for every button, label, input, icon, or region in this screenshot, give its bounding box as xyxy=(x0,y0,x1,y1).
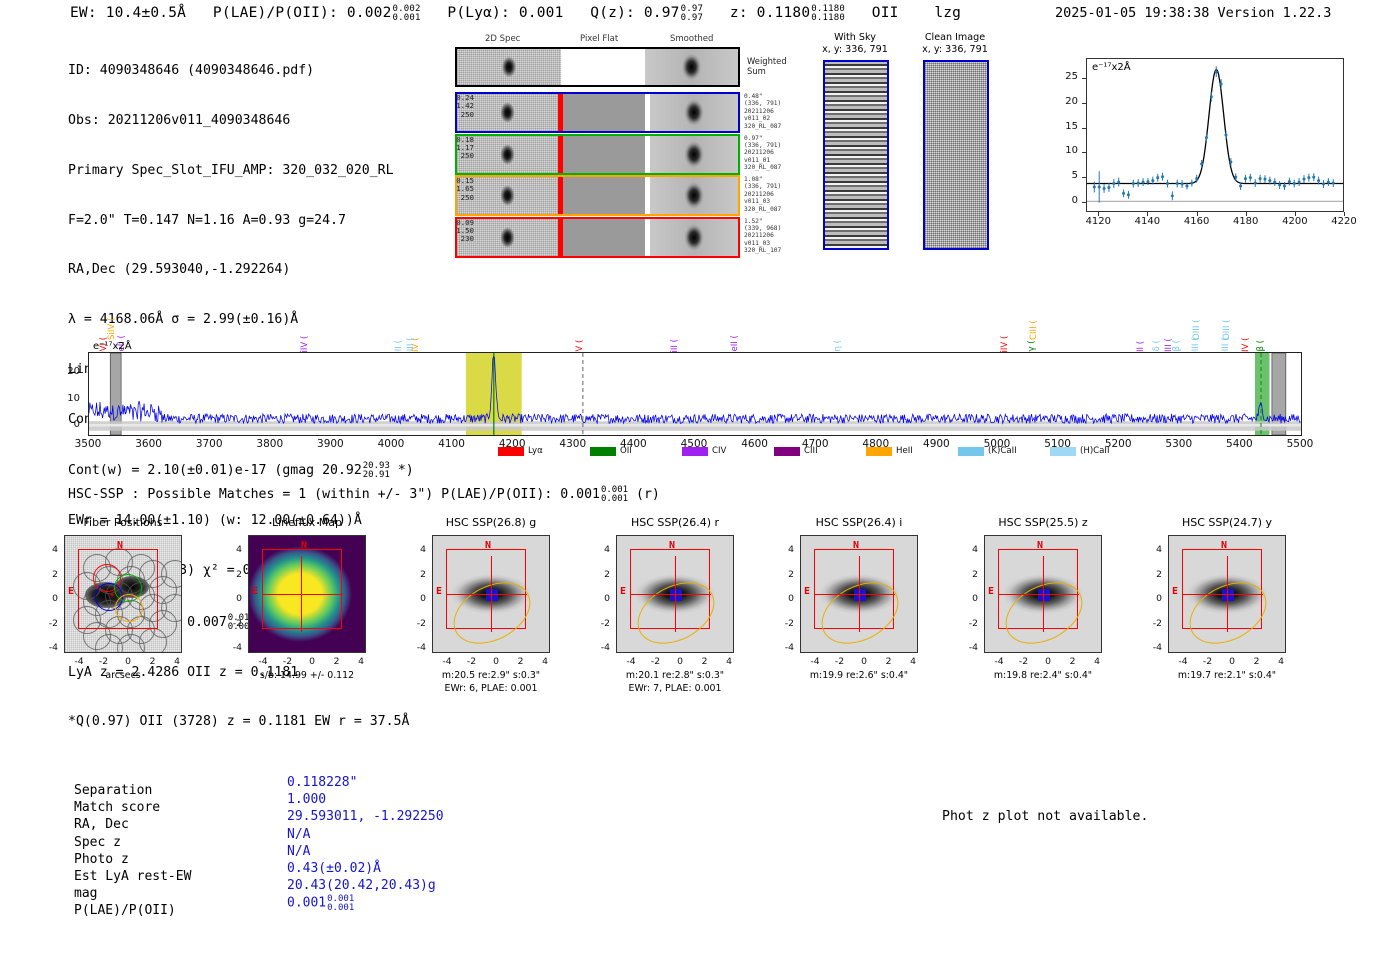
full-spectrum-xtick: 3500 xyxy=(66,438,110,450)
legend-label: (H)CaII xyxy=(1080,446,1110,456)
cutout-ytick: 4 xyxy=(42,544,58,555)
cutout-ytick: 2 xyxy=(1146,569,1162,580)
cutout-caption-1: m:19.8 re:2.4" s:0.4" xyxy=(958,670,1128,682)
full-spectrum-canvas xyxy=(89,353,1301,435)
legend-label: OII xyxy=(620,446,632,456)
param-cont-w: Cont(w) = 2.10(±0.01)e-17 (gmag 20.9220.… xyxy=(68,461,414,480)
cutout-ytick: -2 xyxy=(778,618,794,629)
compass-north-label: N xyxy=(853,540,859,551)
legend-label: HeII xyxy=(896,446,913,456)
cutout-xtick: 2 xyxy=(145,656,161,667)
detail-value: 20.43(20.42,20.43)g xyxy=(287,877,436,894)
compass-north-label: N xyxy=(1221,540,1227,551)
cutout-caption-2: EWr: 7, PLAE: 0.001 xyxy=(590,683,760,695)
full-spectrum-xtick: 4600 xyxy=(733,438,777,450)
full-spectrum-xtick: 4000 xyxy=(369,438,413,450)
cutout-ytick: -4 xyxy=(42,642,58,653)
cutout-ytick: -2 xyxy=(1146,618,1162,629)
cutout-title: HSC SSP(25.5) z xyxy=(968,516,1118,529)
full-spectrum-xtick: 3800 xyxy=(248,438,292,450)
cutout-xtick: -2 xyxy=(280,656,296,667)
cutout-xtick: -4 xyxy=(991,656,1007,667)
cutout-ytick: -4 xyxy=(594,642,610,653)
cutout-image[interactable]: N E xyxy=(1168,535,1286,653)
cutout-ytick: 2 xyxy=(962,569,978,580)
cutout-ytick: -2 xyxy=(962,618,978,629)
detail-label: Spec z xyxy=(74,834,121,851)
cutout-image[interactable]: N E xyxy=(248,535,366,653)
cutout-title: HSC SSP(26.4) i xyxy=(784,516,934,529)
detail-label: Est LyA rest-EW xyxy=(74,868,191,885)
cutout-caption-1: m:19.9 re:2.6" s:0.4" xyxy=(774,670,944,682)
compass-east-label: E xyxy=(620,586,626,597)
cutout-xtick: -2 xyxy=(648,656,664,667)
cutout-xtick: -2 xyxy=(96,656,112,667)
detail-value: N/A xyxy=(287,826,310,843)
detail-label: RA, Dec xyxy=(74,816,129,833)
cutout-xtick: -2 xyxy=(464,656,480,667)
cutout-xtick: -2 xyxy=(832,656,848,667)
cutout-xtick: 4 xyxy=(169,656,185,667)
detail-value: N/A xyxy=(287,843,310,860)
cutout-ytick: -4 xyxy=(226,642,242,653)
cutout-xtick: -4 xyxy=(255,656,271,667)
legend-swatch xyxy=(774,447,800,456)
cutout-ytick: -2 xyxy=(594,618,610,629)
legend-swatch xyxy=(682,447,708,456)
spectral-line-label: CIII ( xyxy=(1029,320,1039,340)
cutout-grid: Fiber Positions + N E 420-2-4-4-2024arcs… xyxy=(0,0,1400,260)
detail-label: mag xyxy=(74,885,97,902)
compass-north-label: N xyxy=(117,540,123,551)
detail-label: P(LAE)/P(OII) xyxy=(74,902,176,919)
cutout-title: HSC SSP(24.7) y xyxy=(1152,516,1302,529)
full-spectrum-xtick: 4100 xyxy=(430,438,474,450)
compass-north-label: N xyxy=(1037,540,1043,551)
cutout-ytick: 4 xyxy=(594,544,610,555)
cutout-ytick: 4 xyxy=(410,544,426,555)
cutout-ytick: -4 xyxy=(778,642,794,653)
cutout-xtick: 2 xyxy=(513,656,529,667)
cutout-ytick: 0 xyxy=(42,593,58,604)
cutout-xtick: 0 xyxy=(120,656,136,667)
cutout-xtick: 0 xyxy=(1224,656,1240,667)
detail-label: Separation xyxy=(74,782,152,799)
hsc-plae-bounds: 0.0010.001 xyxy=(601,486,628,504)
gmag-bounds: 20.9320.91 xyxy=(363,462,390,480)
cutout-image[interactable]: + N E xyxy=(64,535,182,653)
legend-swatch xyxy=(958,447,984,456)
compass-east-label: E xyxy=(68,586,74,597)
cutout-xtick: 4 xyxy=(1089,656,1105,667)
cutout-caption-1: m:20.1 re:2.8" s:0.3" xyxy=(590,670,760,682)
full-spectrum-xtick: 3900 xyxy=(308,438,352,450)
cutout-xtick: 4 xyxy=(353,656,369,667)
legend-swatch xyxy=(498,447,524,456)
hsc-headline: HSC-SSP : Possible Matches = 1 (within +… xyxy=(68,485,660,503)
cutout-xtick: 0 xyxy=(304,656,320,667)
cutout-xtick: 0 xyxy=(672,656,688,667)
cutout-title: Fiber Positions xyxy=(48,516,198,529)
cutout-caption-1: arcsecs xyxy=(38,670,208,682)
detail-value: 29.593011, -1.292250 xyxy=(287,808,444,825)
cutout-caption-1: m:19.7 re:2.1" s:0.4" xyxy=(1142,670,1312,682)
cutout-xtick: 2 xyxy=(697,656,713,667)
cutout-caption-1: s/b: 14.99 +/- 0.112 xyxy=(222,670,392,682)
cutout-ytick: -2 xyxy=(42,618,58,629)
param-qline: *Q(0.97) OII (3728) z = 0.1181 EW r = 37… xyxy=(68,714,414,731)
compass-east-label: E xyxy=(1172,586,1178,597)
detail-label: Match score xyxy=(74,799,160,816)
full-spectrum-xtick: 3700 xyxy=(187,438,231,450)
cutout-ytick: 4 xyxy=(778,544,794,555)
legend-swatch xyxy=(590,447,616,456)
cutout-ytick: -4 xyxy=(962,642,978,653)
cutout-caption-2: EWr: 6, PLAE: 0.001 xyxy=(406,683,576,695)
full-spectrum-xtick: 5400 xyxy=(1217,438,1261,450)
cutout-title: HSC SSP(26.8) g xyxy=(416,516,566,529)
compass-north-label: N xyxy=(669,540,675,551)
cutout-xtick: 0 xyxy=(856,656,872,667)
full-spectrum-xtick: 5500 xyxy=(1278,438,1322,450)
cutout-ytick: 4 xyxy=(1146,544,1162,555)
cutout-ytick: 2 xyxy=(594,569,610,580)
full-spectrum-ytick: 20 xyxy=(50,366,80,377)
cutout-xtick: -4 xyxy=(1175,656,1191,667)
cutout-xtick: 0 xyxy=(488,656,504,667)
cutout-ytick: 0 xyxy=(962,593,978,604)
legend-swatch xyxy=(1050,447,1076,456)
cutout-xtick: 2 xyxy=(1249,656,1265,667)
cutout-xtick: -4 xyxy=(623,656,639,667)
cutout-ytick: -2 xyxy=(410,618,426,629)
compass-north-label: N xyxy=(301,540,307,551)
cutout-xtick: -2 xyxy=(1016,656,1032,667)
full-spectrum-xtick: 4300 xyxy=(551,438,595,450)
cutout-xtick: 4 xyxy=(537,656,553,667)
legend-label: CIV xyxy=(712,446,726,456)
cutout-ytick: 2 xyxy=(226,569,242,580)
cutout-xtick: 4 xyxy=(1273,656,1289,667)
cutout-xtick: -4 xyxy=(439,656,455,667)
compass-east-label: E xyxy=(804,586,810,597)
full-spectrum-ytick: 0 xyxy=(50,419,80,430)
legend-label: Lyα xyxy=(528,446,543,456)
cutout-ytick: -4 xyxy=(1146,642,1162,653)
cutout-caption-1: m:20.5 re:2.9" s:0.3" xyxy=(406,670,576,682)
detail-value: 0.0010.0010.001 xyxy=(287,894,354,912)
full-spectrum-xtick: 5300 xyxy=(1157,438,1201,450)
cutout-xtick: 2 xyxy=(1065,656,1081,667)
compass-east-label: E xyxy=(252,586,258,597)
detail-plae-bounds: 0.0010.001 xyxy=(327,895,354,913)
detail-value: 1.000 xyxy=(287,791,326,808)
spectral-line-label: OIII ( xyxy=(1222,320,1232,340)
cutout-ytick: 2 xyxy=(778,569,794,580)
full-spectrum-plot: e⁻¹⁷x2Å xyxy=(88,352,1302,436)
cutout-xtick: 2 xyxy=(329,656,345,667)
detail-value: 0.43(±0.02)Å xyxy=(287,860,381,877)
legend-label: CIII xyxy=(804,446,818,456)
cutout-ytick: 0 xyxy=(778,593,794,604)
detail-value: 0.118228" xyxy=(287,774,357,791)
cutout-xtick: 4 xyxy=(721,656,737,667)
cutout-xtick: 2 xyxy=(881,656,897,667)
cutout-ytick: 4 xyxy=(962,544,978,555)
cutout-ytick: 2 xyxy=(410,569,426,580)
detail-label: Photo z xyxy=(74,851,129,868)
cutout-xtick: -2 xyxy=(1200,656,1216,667)
compass-east-label: E xyxy=(988,586,994,597)
cutout-ytick: -2 xyxy=(226,618,242,629)
cutout-ytick: 4 xyxy=(226,544,242,555)
legend-label: (K)CaII xyxy=(988,446,1017,456)
full-spectrum-xtick: 3600 xyxy=(127,438,171,450)
full-spectrum-xtick: 4900 xyxy=(914,438,958,450)
cutout-ytick: 0 xyxy=(226,593,242,604)
cutout-ytick: 0 xyxy=(1146,593,1162,604)
compass-north-label: N xyxy=(485,540,491,551)
photoz-message: Phot z plot not available. xyxy=(942,809,1148,824)
cutout-title: HSC SSP(26.4) r xyxy=(600,516,750,529)
cutout-title: Lineflux Map xyxy=(232,516,382,529)
cutout-image[interactable]: N E xyxy=(984,535,1102,653)
full-spectrum-ytick: 10 xyxy=(50,393,80,404)
cutout-xtick: 0 xyxy=(1040,656,1056,667)
cutout-ytick: 2 xyxy=(42,569,58,580)
cutout-ytick: -4 xyxy=(410,642,426,653)
cutout-image[interactable]: N E xyxy=(432,535,550,653)
cutout-image[interactable]: N E xyxy=(616,535,734,653)
full-spectrum-yunit: e⁻¹⁷x2Å xyxy=(93,341,132,352)
cutout-image[interactable]: N E xyxy=(800,535,918,653)
full-spectrum-xtick: 4400 xyxy=(611,438,655,450)
cutout-ytick: 0 xyxy=(594,593,610,604)
compass-east-label: E xyxy=(436,586,442,597)
cutout-xtick: 4 xyxy=(905,656,921,667)
cutout-xtick: -4 xyxy=(71,656,87,667)
legend-swatch xyxy=(866,447,892,456)
cutout-xtick: -4 xyxy=(807,656,823,667)
spectral-line-label: OIII ( xyxy=(1192,320,1202,340)
cutout-ytick: 0 xyxy=(410,593,426,604)
